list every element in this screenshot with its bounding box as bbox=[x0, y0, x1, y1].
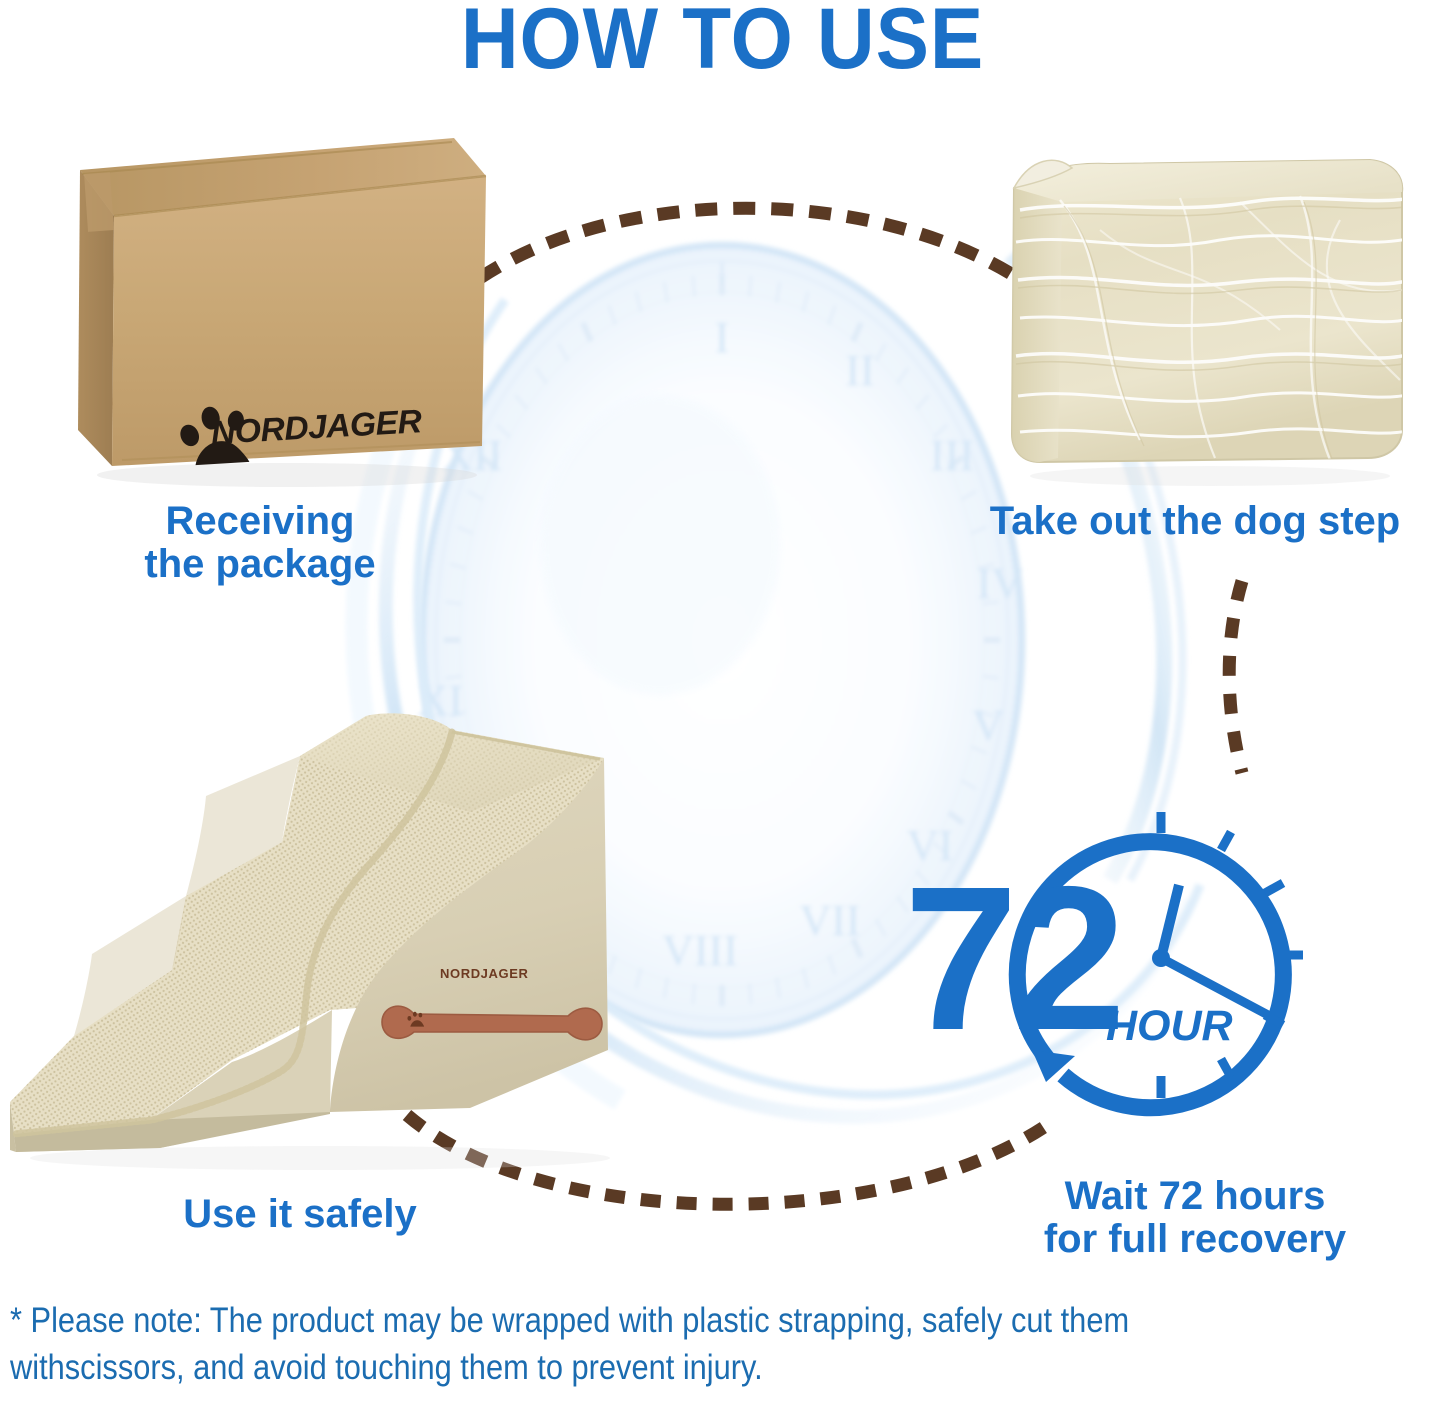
svg-text:I: I bbox=[715, 313, 730, 362]
dog-step-product-image bbox=[0, 700, 650, 1180]
caption-take-out-the-dog-step: Take out the dog step bbox=[950, 500, 1440, 543]
clock-72-hour-icon: 72 HOUR bbox=[900, 780, 1350, 1125]
clock-number-label: 72 bbox=[904, 856, 1120, 1061]
caption-receiving-the-package: Receiving the package bbox=[20, 500, 500, 586]
svg-text:V: V bbox=[972, 701, 1004, 750]
cardboard-box-image: NORDJAGER bbox=[62, 130, 492, 500]
footnote-note: * Please note: The product may be wrappe… bbox=[10, 1297, 1260, 1392]
svg-text:II: II bbox=[845, 346, 874, 395]
caption-wait-72-hours: Wait 72 hours for full recovery bbox=[960, 1175, 1430, 1261]
clock-ticks bbox=[1161, 812, 1303, 1098]
svg-text:III: III bbox=[930, 431, 974, 480]
dashed-arc-top bbox=[470, 160, 1030, 290]
page-title: HOW TO USE bbox=[51, 0, 1395, 82]
svg-text:VII: VII bbox=[799, 896, 860, 945]
clock-hands bbox=[1152, 885, 1268, 1015]
svg-text:IV: IV bbox=[977, 559, 1024, 608]
svg-text:VIII: VIII bbox=[662, 926, 738, 975]
shrink-wrapped-pack-image bbox=[1000, 140, 1420, 500]
infographic-page: I II III IV V VI VII VIII IX X XI XII bbox=[0, 0, 1445, 1404]
clock-unit-label: HOUR bbox=[1106, 1002, 1233, 1051]
dashed-line-right bbox=[1185, 575, 1295, 780]
caption-use-it-safely: Use it safely bbox=[30, 1193, 570, 1236]
